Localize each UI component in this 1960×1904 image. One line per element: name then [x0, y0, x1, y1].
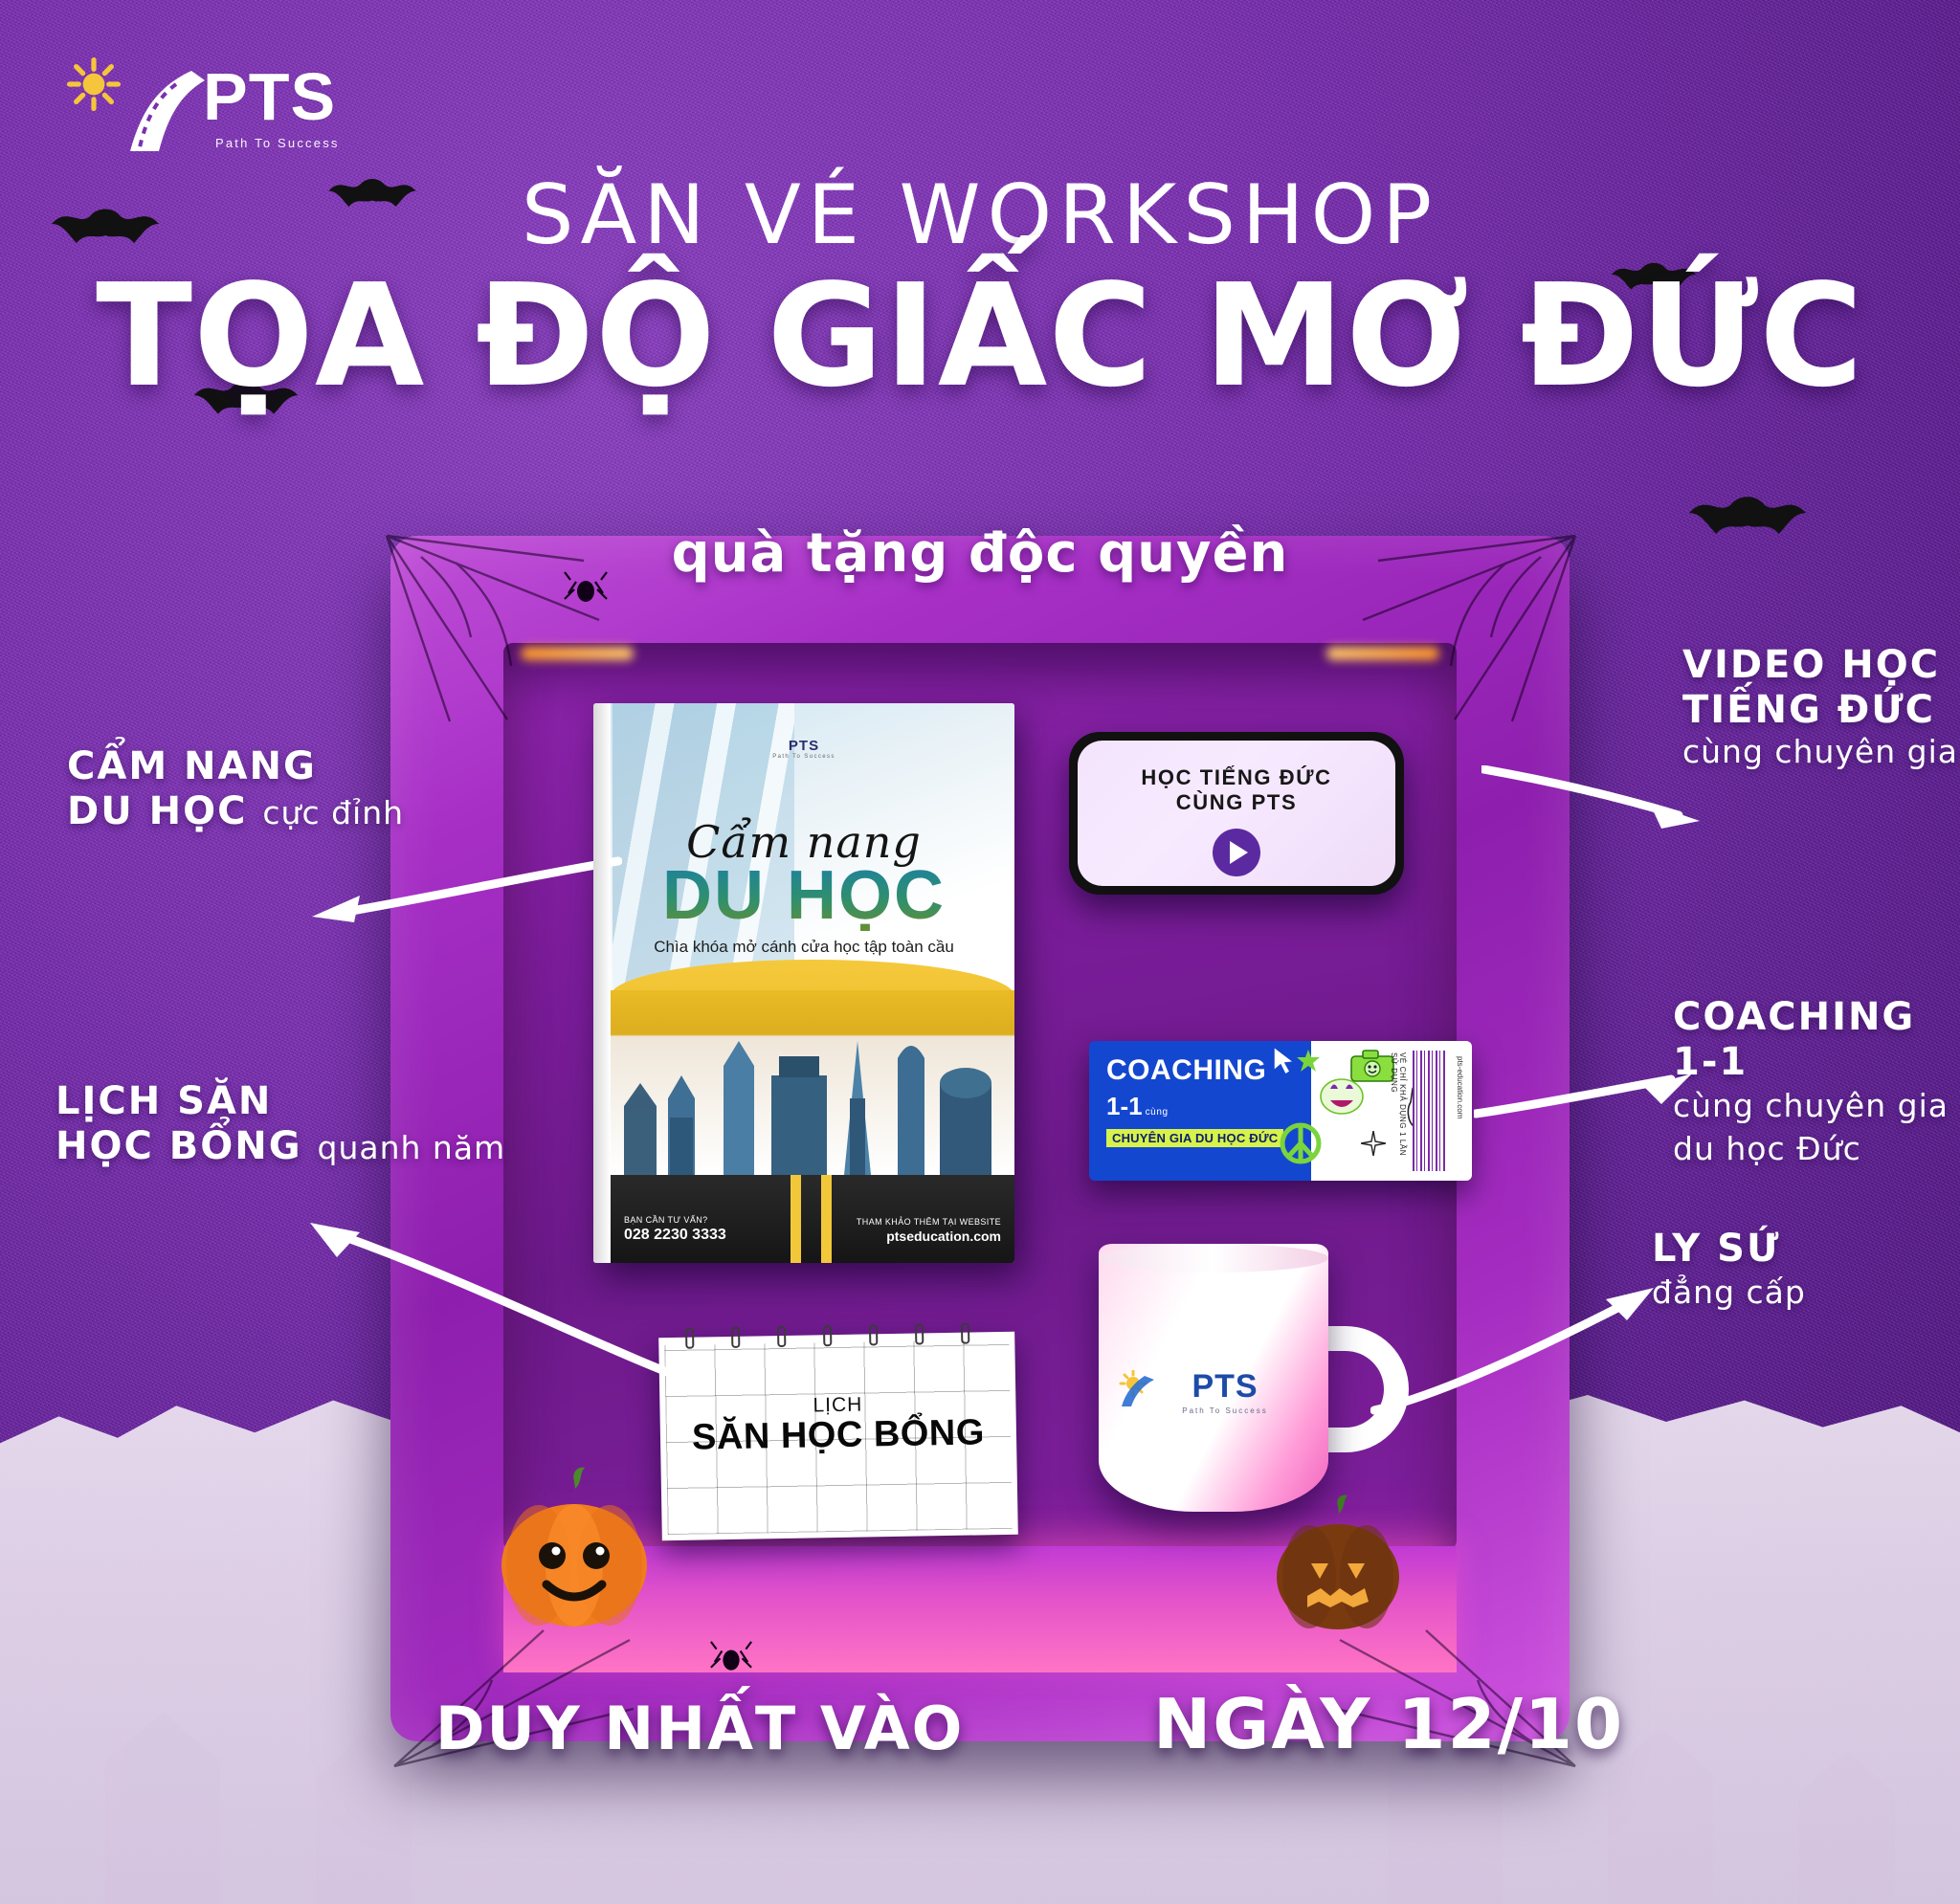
phone-screen: HỌC TIẾNG ĐỨC CÙNG PTS: [1078, 741, 1395, 886]
scholarship-calendar: LỊCH SĂN HỌC BỔNG: [658, 1332, 1018, 1540]
book-main-title: DU HỌC: [593, 856, 1014, 935]
mug-logo: PTS Path To Success: [1158, 1368, 1292, 1415]
voucher-tier: 1-1cùng: [1106, 1092, 1311, 1121]
arrow-to-voucher: [1474, 1072, 1694, 1129]
annotation-video-hoc-line1: VIDEO HỌC: [1682, 643, 1958, 688]
arrow-to-phone: [1481, 765, 1702, 832]
eyebrow-heading: SĂN VÉ WORKSHOP: [0, 167, 1960, 263]
annotation-video-hoc-line2: TIẾNG ĐỨC: [1682, 688, 1958, 733]
barcode-icon: [1413, 1051, 1445, 1171]
banner-left-text: DUY NHẤT VÀO: [435, 1694, 964, 1763]
logo-tagline: Path To Success: [215, 136, 340, 150]
cursor-sticker: [1271, 1045, 1298, 1077]
book-brand-name: PTS: [789, 738, 819, 754]
pumpkin-smiling-icon: [483, 1464, 665, 1636]
voucher-usage-note: VÉ CHỈ KHẢ DỤNG 1 LẦN SỬ DỤNG: [1390, 1052, 1407, 1165]
mug-brand-name: PTS: [1158, 1368, 1292, 1406]
annotation-cam-nang-line2-bold: DU HỌC: [67, 789, 247, 833]
coaching-voucher-card: COACHING 1-1cùng CHUYÊN GIA DU HỌC ĐỨC: [1089, 1041, 1472, 1181]
annotation-cam-nang-line1: CẨM NANG: [67, 744, 404, 789]
book-subtitle: Chìa khóa mở cánh cửa học tập toàn cầu: [593, 938, 1014, 957]
annotation-lich-san-line2-bold: HỌC BỔNG: [56, 1124, 302, 1168]
arrow-to-book: [306, 853, 622, 930]
spider-icon: [563, 570, 609, 618]
brand-logo: PTS Path To Success: [59, 50, 346, 155]
book-brand-tagline: Path To Success: [593, 754, 1014, 760]
annotation-ly-su: LY SỨ đẳng cấp: [1652, 1227, 1806, 1315]
annotation-video-hoc: VIDEO HỌC TIẾNG ĐỨC cùng chuyên gia: [1682, 643, 1958, 770]
voucher-site: pts-education.com: [1456, 1056, 1464, 1162]
annotation-video-hoc-line3: cùng chuyên gia: [1682, 733, 1958, 770]
ceramic-mug: PTS Path To Success: [1099, 1244, 1414, 1531]
banner-right-text: NGÀY 12/10: [1153, 1684, 1624, 1764]
pumpkin-carved-icon: [1261, 1493, 1414, 1636]
play-icon[interactable]: [1213, 829, 1260, 876]
voucher-tier-suffix: cùng: [1146, 1107, 1169, 1118]
book-footer-website-label: THAM KHẢO THÊM TẠI WEBSITE: [857, 1217, 1001, 1227]
annotation-coaching-line2: cùng chuyên gia: [1673, 1085, 1960, 1128]
sun-icon: [1116, 1370, 1158, 1408]
annotation-lich-san: LỊCH SĂN HỌC BỔNG quanh năm: [56, 1079, 505, 1169]
spider-icon: [708, 1640, 754, 1686]
annotation-coaching-line3: du học Đức: [1673, 1128, 1960, 1171]
annotation-coaching-line1: COACHING 1-1: [1673, 995, 1960, 1085]
book-landmarks-illustration: [611, 990, 1014, 1175]
page-title: TỌA ĐỘ GIẤC MƠ ĐỨC: [0, 254, 1960, 418]
voucher-highlight: CHUYÊN GIA DU HỌC ĐỨC: [1106, 1129, 1283, 1147]
sparkle-sticker: [1361, 1131, 1386, 1156]
video-phone-mockup: HỌC TIẾNG ĐỨC CÙNG PTS: [1069, 732, 1404, 895]
annotation-ly-su-line2: đẳng cấp: [1652, 1272, 1806, 1315]
annotation-lich-san-line2-rest: quanh năm: [318, 1129, 506, 1166]
phone-title-line2: CÙNG PTS: [1078, 790, 1395, 815]
bat-icon: [1684, 488, 1811, 557]
voucher-tier-value: 1-1: [1106, 1092, 1143, 1120]
book-footer-website: THAM KHẢO THÊM TẠI WEBSITE ptseducation.…: [857, 1217, 1001, 1244]
road-icon: [109, 67, 209, 155]
star-sticker: [1296, 1049, 1321, 1074]
study-abroad-handbook-book: PTS Path To Success Cẩm nang DU HỌC Chìa…: [593, 703, 1014, 1263]
arrow-to-mug: [1370, 1273, 1658, 1416]
calendar-line2: SĂN HỌC BỔNG: [660, 1412, 1017, 1459]
annotation-cam-nang-line2-rest: cực đỉnh: [262, 794, 404, 831]
annotation-coaching: COACHING 1-1 cùng chuyên gia du học Đức: [1673, 995, 1960, 1170]
book-brand-logo: PTS Path To Success: [593, 738, 1014, 760]
annotation-lich-san-line1: LỊCH SĂN: [56, 1079, 505, 1124]
annotation-ly-su-line1: LY SỨ: [1652, 1227, 1806, 1272]
voucher-right-panel: VÉ CHỈ KHẢ DỤNG 1 LẦN SỬ DỤNG pts-educat…: [1311, 1041, 1472, 1181]
arrow-to-calendar: [304, 1204, 706, 1395]
mug-brand-tagline: Path To Success: [1158, 1406, 1292, 1415]
annotation-cam-nang: CẨM NANG DU HỌC cực đỉnh: [67, 744, 404, 834]
mug-rim: [1099, 1244, 1328, 1273]
book-footer-url: ptseducation.com: [857, 1229, 1001, 1244]
spiderweb-icon: [383, 532, 603, 723]
logo-wordmark: PTS: [203, 63, 336, 130]
spiderweb-icon: [1359, 532, 1579, 723]
book-spine: [593, 703, 611, 1263]
phone-title-line1: HỌC TIẾNG ĐỨC: [1078, 765, 1395, 790]
smiley-sticker: [1317, 1072, 1370, 1119]
peace-sign-sticker: [1279, 1121, 1323, 1165]
